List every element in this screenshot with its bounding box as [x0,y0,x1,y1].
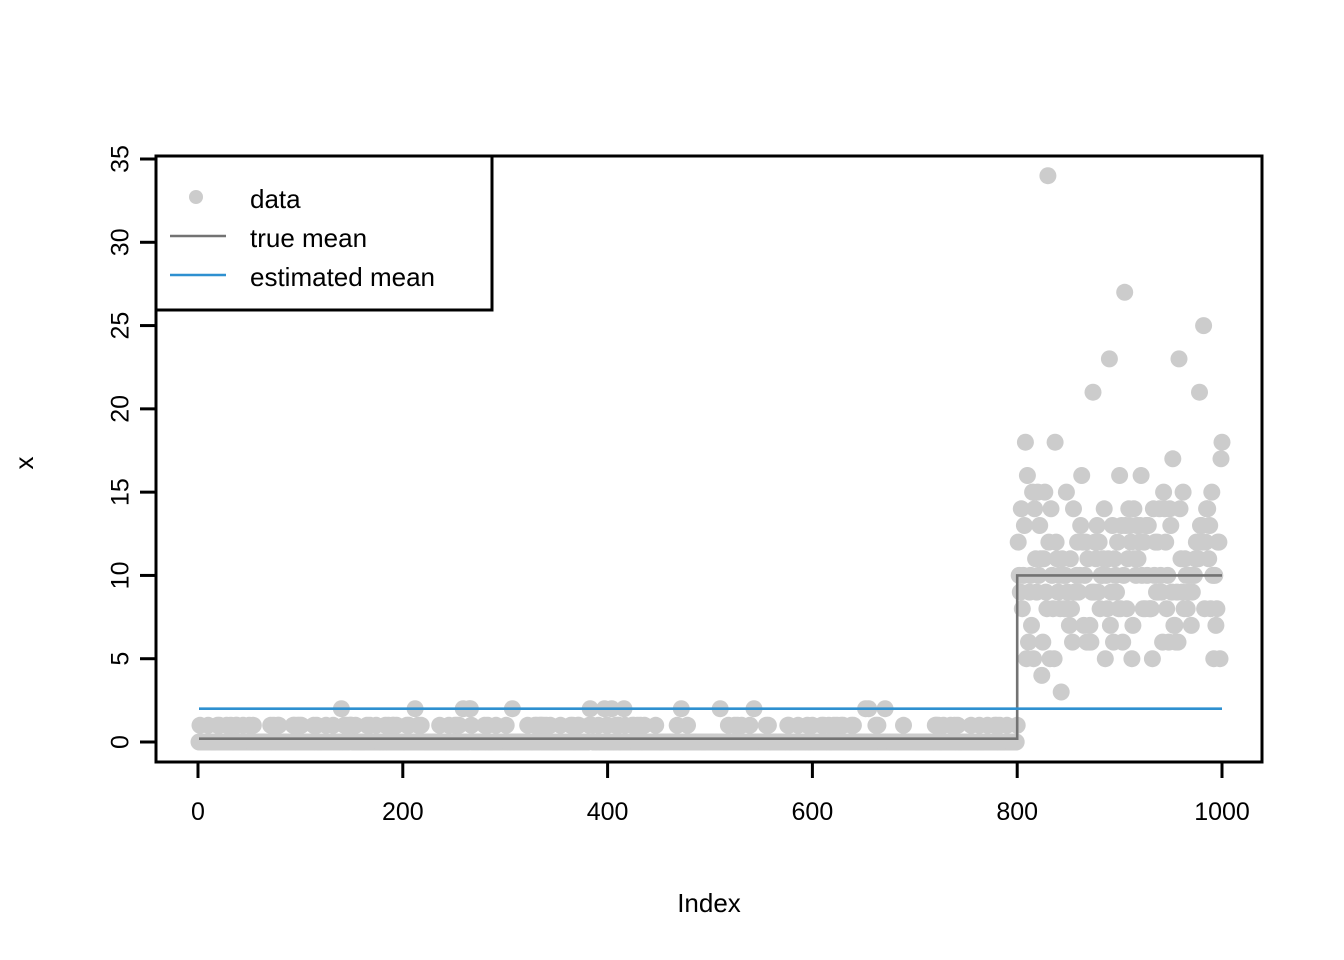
data-point [647,717,664,734]
y-tick-label: 0 [107,735,135,749]
data-point [1124,617,1141,634]
y-tick-label: 30 [107,228,135,256]
data-point [1191,384,1208,401]
data-point [1019,467,1036,484]
data-point [1102,617,1119,634]
data-point [1195,317,1212,334]
data-point [1207,617,1224,634]
data-point [1081,617,1098,634]
data-point [1164,450,1181,467]
data-point [1144,650,1161,667]
data-point [1026,500,1043,517]
data-point [1214,434,1231,451]
data-point [1065,500,1082,517]
y-tick-label: 10 [107,562,135,590]
data-point [1143,600,1160,617]
data-point [1046,650,1063,667]
data-point [1123,650,1140,667]
data-point [1114,634,1131,651]
x-tick-label: 400 [587,798,629,826]
data-point [760,717,777,734]
data-point [1203,484,1220,501]
data-point [1072,517,1089,534]
legend-marker-data-icon [189,190,203,204]
data-point [1058,484,1075,501]
data-point [498,717,515,734]
data-point [1210,534,1227,551]
x-tick-label: 200 [382,798,424,826]
x-tick-label: 0 [191,798,205,826]
data-point [1172,500,1189,517]
data-point [1062,550,1079,567]
data-point [1048,534,1065,551]
data-point [1010,534,1027,551]
data-point [1158,600,1175,617]
data-point [245,717,262,734]
y-tick-label: 25 [107,312,135,340]
data-point [869,717,886,734]
data-point [1023,617,1040,634]
y-tick-label: 5 [107,652,135,666]
legend[interactable]: data true mean estimated mean [156,156,492,310]
data-point [1089,517,1106,534]
data-point [1091,534,1108,551]
data-point [1130,550,1147,567]
data-point [1111,467,1128,484]
data-point [1162,517,1179,534]
x-tick-label: 800 [996,798,1038,826]
data-point [1043,500,1060,517]
plot-root: 0200400600800100005101520253035Indexx da… [0,0,1344,960]
data-point [1073,467,1090,484]
y-tick-label: 15 [107,478,135,506]
y-tick-label: 35 [107,145,135,173]
data-point [1184,584,1201,601]
data-point [1170,634,1187,651]
data-point [1047,434,1064,451]
data-point [1017,434,1034,451]
data-point [1097,650,1114,667]
data-point [1085,384,1102,401]
data-point [895,717,912,734]
data-point [1036,484,1053,501]
legend-label-estimated-mean: estimated mean [250,262,435,292]
data-point [1116,284,1133,301]
data-point [1033,667,1050,684]
data-point [1171,350,1188,367]
data-point [1039,167,1056,184]
data-point [1201,517,1218,534]
y-axis-title: x [9,457,39,470]
y-tick-label: 20 [107,395,135,423]
data-point [1140,517,1157,534]
data-point [413,717,430,734]
data-point [1031,517,1048,534]
data-point [1125,500,1142,517]
data-point [1016,517,1033,534]
data-point [1053,684,1070,701]
scatter-plot-figure: 0200400600800100005101520253035Indexx da… [0,0,1344,960]
data-point [1200,550,1217,567]
data-point [1157,534,1174,551]
data-point [845,717,862,734]
data-point [1118,600,1135,617]
data-point [1133,467,1150,484]
data-point [1063,600,1080,617]
legend-label-data: data [250,184,301,214]
data-point [1199,500,1216,517]
data-point [1208,600,1225,617]
data-point [1108,584,1125,601]
data-point [1155,484,1172,501]
data-point [679,717,696,734]
x-tick-label: 1000 [1194,798,1250,826]
x-axis-title: Index [677,888,741,918]
data-point [1096,500,1113,517]
data-point [1101,350,1118,367]
legend-label-true-mean: true mean [250,223,367,253]
data-point [1082,634,1099,651]
x-tick-label: 600 [792,798,834,826]
data-point [1166,617,1183,634]
data-point [1183,617,1200,634]
data-point [1213,450,1230,467]
data-point [741,717,758,734]
data-point [1212,650,1229,667]
data-point [1179,600,1196,617]
data-point [1034,634,1051,651]
data-point [1025,650,1042,667]
data-point [1175,484,1192,501]
